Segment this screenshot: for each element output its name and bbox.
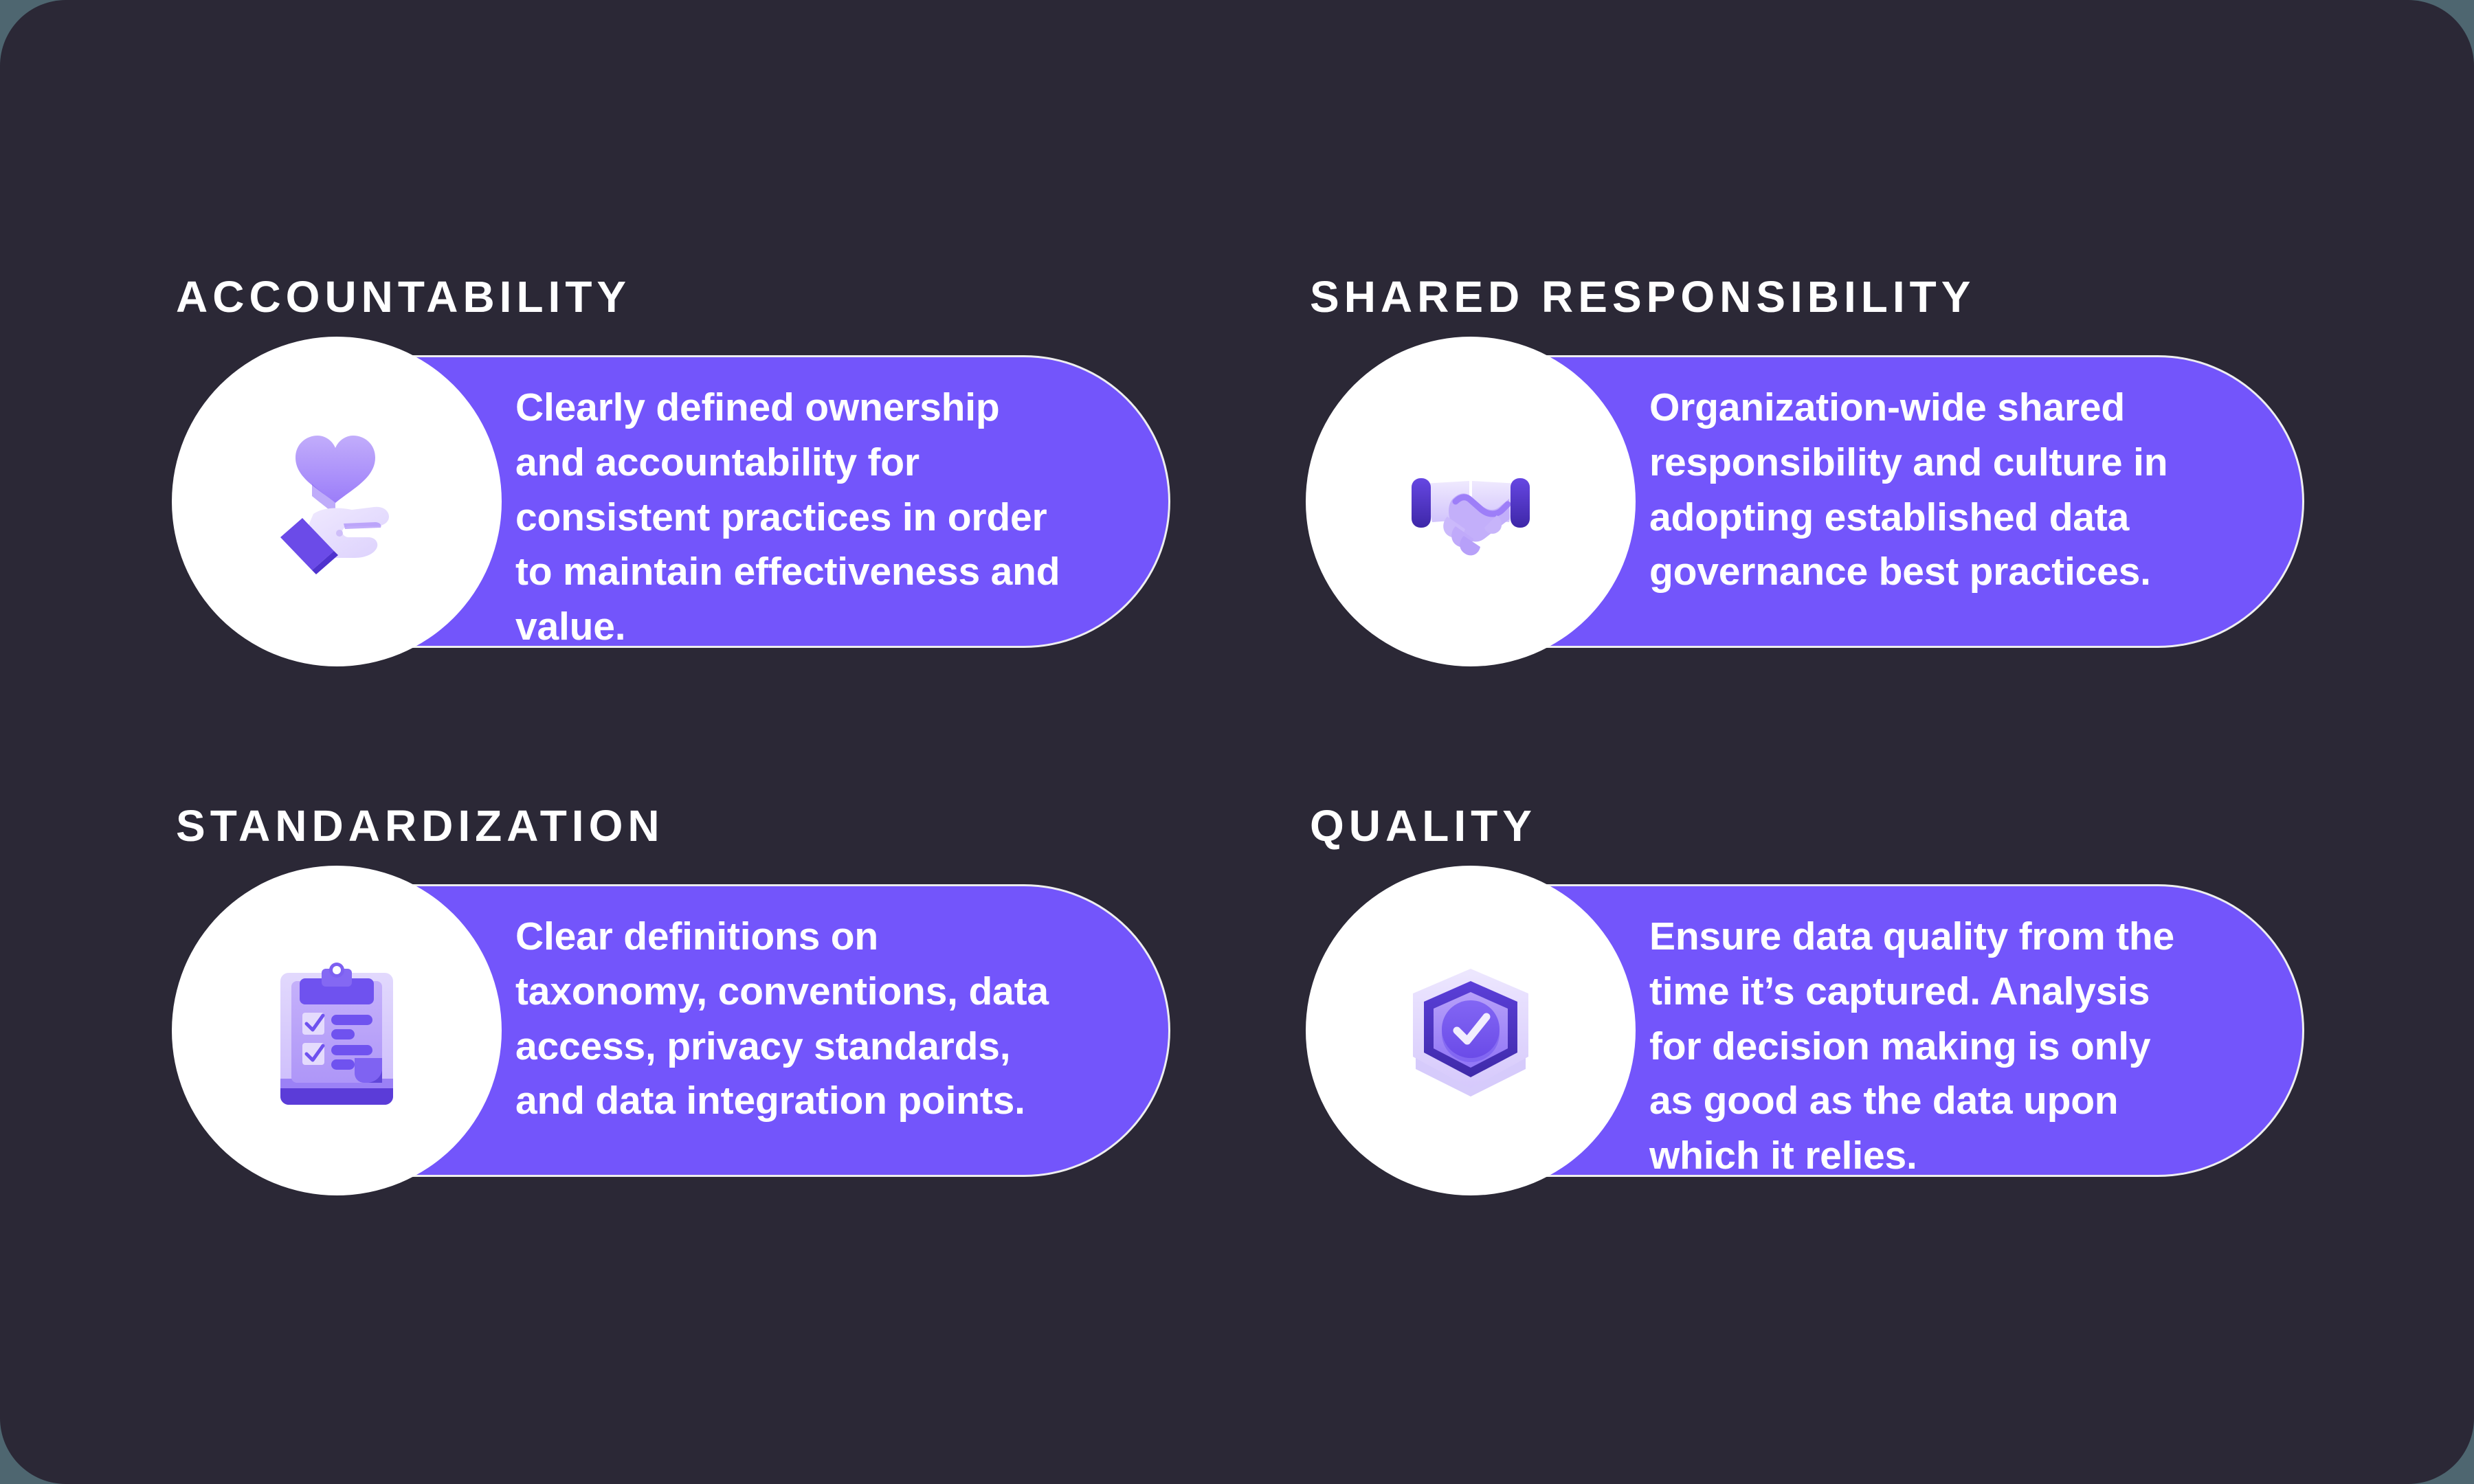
card-title: STANDARDIZATION [176, 804, 665, 848]
shield-check-icon [1381, 941, 1560, 1120]
card-description: Ensure data quality from the time it’s c… [1649, 910, 2199, 1184]
principle-card-shared-responsibility: SHARED RESPONSIBILITY [1306, 275, 2323, 687]
principles-grid: ACCOUNTABILITY [0, 0, 2474, 1484]
infographic-page: ACCOUNTABILITY [0, 0, 2474, 1484]
card-description: Clearly defined ownership and accountabi… [515, 381, 1079, 655]
card-pill: Clear definitions on taxonomy, conventio… [172, 886, 1168, 1175]
icon-badge [172, 866, 502, 1195]
icon-badge [172, 337, 502, 666]
principle-card-accountability: ACCOUNTABILITY [172, 275, 1189, 687]
card-description: Organization-wide shared responsibility … [1649, 381, 2199, 600]
card-title: ACCOUNTABILITY [176, 275, 631, 319]
card-pill: Ensure data quality from the time it’s c… [1306, 886, 2302, 1175]
icon-badge [1306, 866, 1636, 1195]
card-title: QUALITY [1310, 804, 1537, 848]
card-pill: Clearly defined ownership and accountabi… [172, 357, 1168, 646]
principle-card-standardization: STANDARDIZATION [172, 804, 1189, 1216]
principle-card-quality: QUALITY [1306, 804, 2323, 1216]
card-title: SHARED RESPONSIBILITY [1310, 275, 1975, 319]
card-pill: Organization-wide shared responsibility … [1306, 357, 2302, 646]
clipboard-checklist-icon [247, 941, 426, 1120]
icon-badge [1306, 337, 1636, 666]
card-description: Clear definitions on taxonomy, conventio… [515, 910, 1079, 1129]
handshake-icon [1381, 412, 1560, 591]
heart-in-hand-icon [247, 412, 426, 591]
